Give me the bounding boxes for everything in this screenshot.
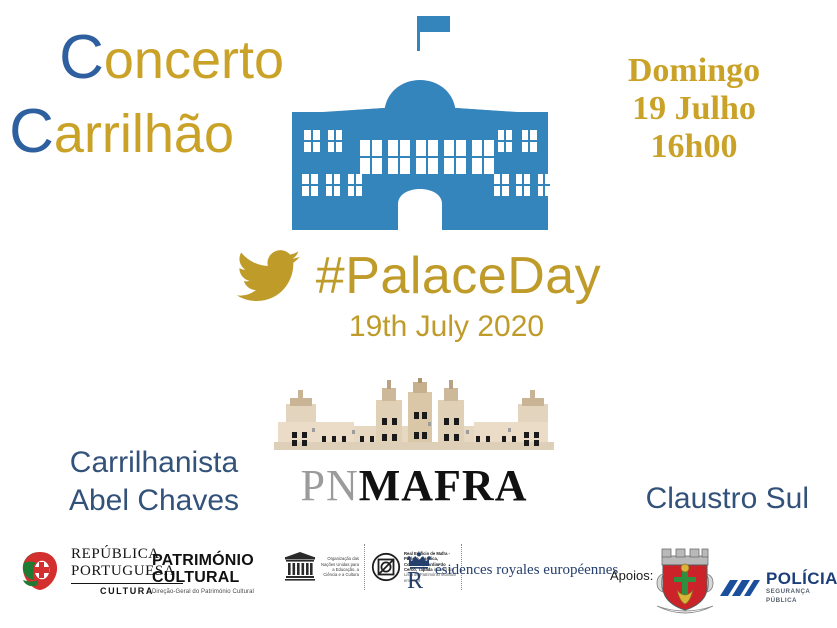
event-date-block: Domingo 19 Julho 16h00 <box>579 52 809 166</box>
hashtag-block: #PalaceDay 19th July 2020 <box>0 248 837 344</box>
twitter-bird-icon <box>236 249 302 303</box>
pnmafra-prefix: PN <box>301 461 359 510</box>
performer-role: Carrilhanista <box>34 444 274 482</box>
mafra-coat-of-arms-icon <box>652 544 718 618</box>
unesco-description: Organização das Nações Unidas para a Edu… <box>319 556 359 578</box>
title-word-carrilhao: arrilhão <box>54 104 234 164</box>
world-heritage-icon <box>371 552 401 582</box>
royal-crown-icon: R <box>404 550 434 590</box>
psp-line1: POLÍCIA <box>766 570 837 587</box>
svg-text:R: R <box>407 568 423 590</box>
unesco-divider-1 <box>364 544 366 590</box>
title-line-carrilhao: Carrilhão <box>0 96 300 170</box>
patrimonio-cultural-logo: PATRIMÓNIO CULTURAL Direção-Geral do Pat… <box>152 552 254 596</box>
pnmafra-name: MAFRA <box>359 461 528 510</box>
title-initial-c2: C <box>9 97 54 166</box>
date-weekday: Domingo <box>579 52 809 90</box>
portugal-shield-icon <box>18 549 62 593</box>
pnmafra-wordmark: PNMAFRA <box>268 462 560 510</box>
date-time: 16h00 <box>579 128 809 166</box>
poster-canvas: Concerto Carrilhão Domingo 19 Julho 16h0… <box>0 0 837 628</box>
hashtag-row: #PalaceDay <box>236 248 601 304</box>
date-day-month: 19 Julho <box>579 90 809 128</box>
patrimonio-line1: PATRIMÓNIO <box>152 552 254 569</box>
mafra-palace-skyline-icon <box>268 378 560 460</box>
title-line-concerto: Concerto <box>0 22 300 96</box>
performer-name: Abel Chaves <box>34 482 274 520</box>
psp-logo: POLÍCIA SEGURANÇA PÚBLICA <box>718 570 837 605</box>
venue-label: Claustro Sul <box>646 480 809 518</box>
performer-block: Carrilhanista Abel Chaves <box>34 444 274 520</box>
hashtag-subtitle: 19th July 2020 <box>0 310 837 344</box>
residences-royales-logo: R ésidences royales européennes <box>404 550 618 590</box>
psp-line2: SEGURANÇA PÚBLICA <box>766 587 837 605</box>
patrimonio-line2: CULTURAL <box>152 569 254 586</box>
hashtag-text: #PalaceDay <box>316 248 601 304</box>
unesco-temple-icon <box>283 552 317 582</box>
patrimonio-line3: Direção-Geral do Património Cultural <box>152 588 254 596</box>
apoios-label: Apoios: <box>610 568 653 583</box>
title-word-concerto: oncerto <box>104 30 284 90</box>
psp-stripes-icon <box>718 578 760 598</box>
title-initial-c1: C <box>59 23 104 92</box>
residences-royales-text: ésidences royales européennes <box>435 561 618 579</box>
pnmafra-logo: PNMAFRA <box>268 378 560 510</box>
palace-building-icon <box>272 8 568 242</box>
event-title: Concerto Carrilhão <box>0 22 300 170</box>
